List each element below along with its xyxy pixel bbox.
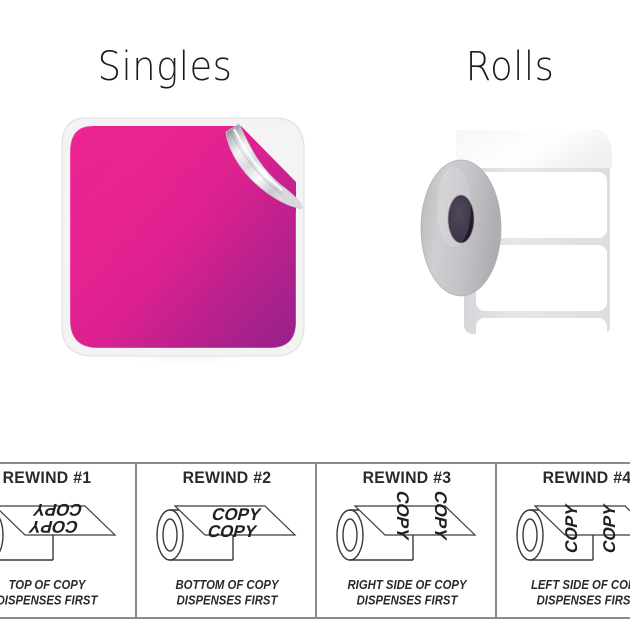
- rewind-card-3-copy-top: COPY: [393, 490, 413, 542]
- rewind-card-4-artwork: COPY COPY: [507, 490, 630, 568]
- rewind-card-2-title: REWIND #2: [137, 470, 317, 489]
- rewind-card-3-artwork: COPY COPY: [327, 490, 487, 568]
- rolls-label-roll-image[interactable]: [404, 112, 626, 347]
- rewind-card-2-caption: BOTTOM OF COPY DISPENSES FIRST: [143, 577, 310, 608]
- rewind-card-4-copy-top: COPY: [561, 502, 581, 556]
- rewind-card-4-caption-line2: DISPENSES FIRST: [503, 593, 630, 609]
- rewind-card-1[interactable]: REWIND #1 COPY COPY: [0, 464, 137, 617]
- page-title-singles: Singles: [49, 43, 282, 90]
- rewind-card-2-caption-line2: DISPENSES FIRST: [143, 593, 310, 609]
- product-type-section: Singles Rolls: [0, 0, 630, 440]
- sticker-pink-face: [66, 122, 300, 352]
- roll-top-sheet: [456, 130, 612, 168]
- rewind-card-2-artwork: COPY COPY: [147, 490, 307, 568]
- rewind-card-1-caption-line1: TOP OF COPY: [0, 577, 131, 593]
- singles-sticker-image[interactable]: [56, 112, 326, 374]
- sticker-graphic: [56, 112, 326, 374]
- rewind-card-3[interactable]: REWIND #3 COPY COPY: [317, 464, 497, 617]
- rewind-card-4-title: REWIND #4: [497, 470, 630, 489]
- rewind-options-strip: REWIND #1 COPY COPY: [0, 462, 630, 619]
- rewind-card-3-caption-line2: DISPENSES FIRST: [323, 593, 490, 609]
- rewind-card-4[interactable]: REWIND #4 COPY COPY: [497, 464, 630, 617]
- rewind-card-3-copy-bottom: COPY: [431, 490, 451, 542]
- rewind-card-3-caption: RIGHT SIDE OF COPY DISPENSES FIRST: [323, 577, 490, 608]
- rewind-card-4-caption-line1: LEFT SIDE OF COPY: [503, 577, 630, 593]
- rewind-card-2[interactable]: REWIND #2 COPY COPY: [137, 464, 317, 617]
- rewind-card-1-copy-bottom: COPY: [31, 500, 85, 520]
- roll-graphic: [404, 112, 626, 347]
- rewind-card-4-copy-bottom: COPY: [599, 502, 619, 556]
- rewind-card-2-copy-bottom: COPY: [206, 521, 260, 541]
- rewind-card-1-title: REWIND #1: [0, 470, 137, 489]
- rewind-card-1-caption: TOP OF COPY DISPENSES FIRST: [0, 577, 131, 608]
- rewind-card-3-caption-line1: RIGHT SIDE OF COPY: [323, 577, 490, 593]
- page-title-rolls: Rolls: [413, 43, 607, 90]
- rewind-card-3-title: REWIND #3: [317, 470, 497, 489]
- rewind-cards-track: REWIND #1 COPY COPY: [0, 464, 630, 617]
- rewind-card-1-artwork: COPY COPY: [0, 490, 127, 568]
- rewind-card-2-caption-line1: BOTTOM OF COPY: [143, 577, 310, 593]
- rewind-card-1-caption-line2: DISPENSES FIRST: [0, 593, 131, 609]
- rewind-card-4-caption: LEFT SIDE OF COPY DISPENSES FIRST: [503, 577, 630, 608]
